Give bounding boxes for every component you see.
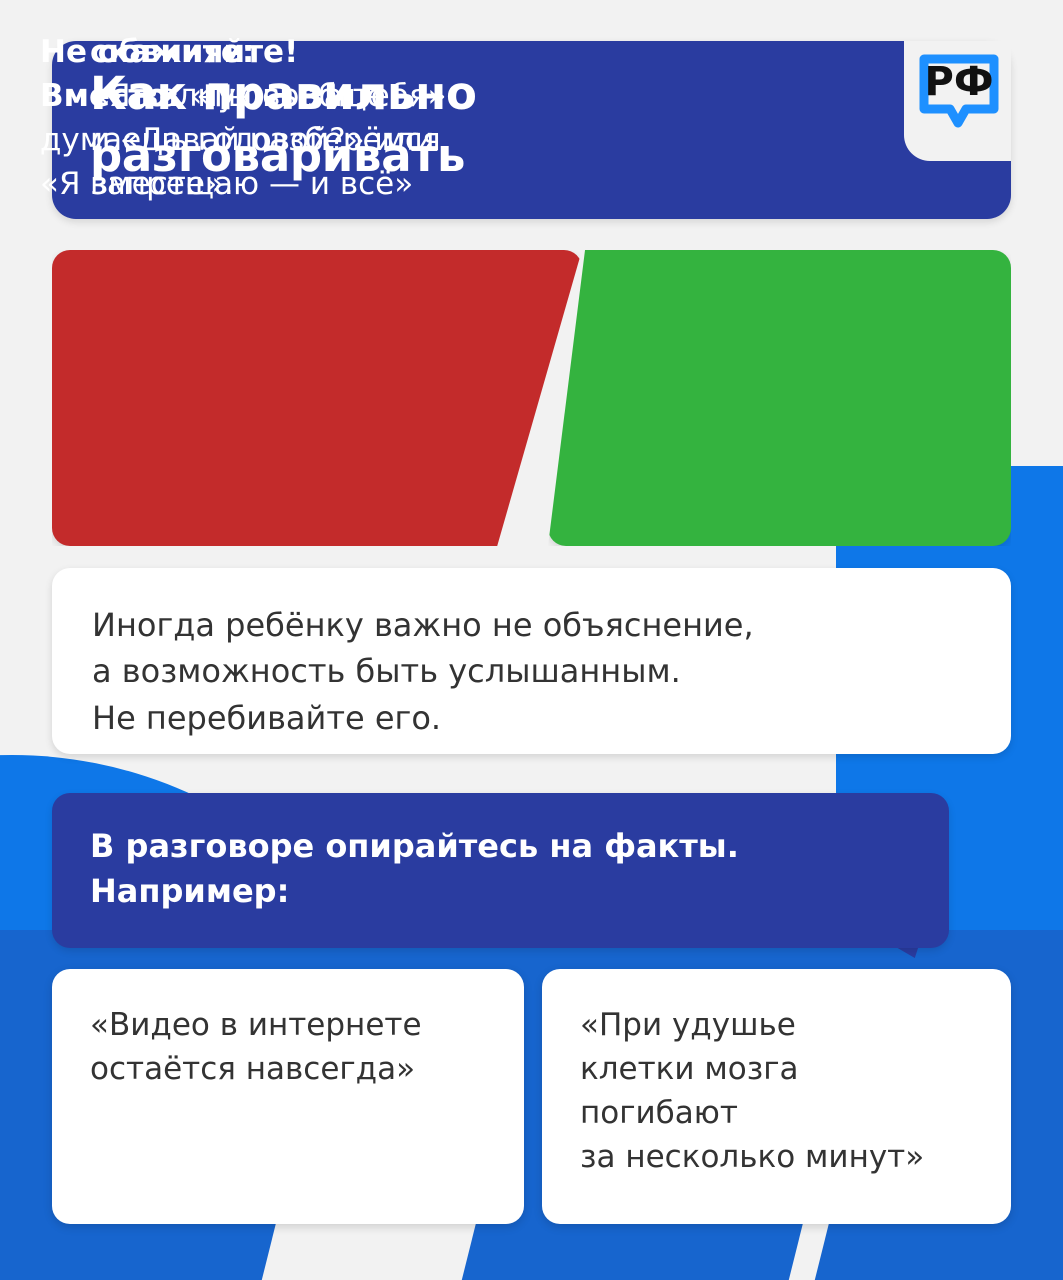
card-say-this-text: скажите: «Я волнуюсь за тебя» и «Давай р… (90, 30, 450, 206)
rf-logo: РФ (914, 43, 1006, 139)
card-do-not-accuse (52, 250, 582, 546)
say-this-label: скажите: (90, 34, 254, 70)
listening-note-text: Иногда ребёнку важно не объяснение, а во… (92, 602, 972, 741)
card-listening-note: Иногда ребёнку важно не объяснение, а во… (52, 568, 1011, 754)
facts-heading-text: В разговоре опирайтесь на факты. Наприме… (90, 824, 910, 915)
say-this-quote: «Я волнуюсь за тебя» и «Давай разберёмся… (90, 78, 447, 202)
infographic-root: Как правильно разговаривать РФ Не обвиня… (0, 0, 1063, 1280)
card-facts-heading: В разговоре опирайтесь на факты. Наприме… (52, 793, 949, 948)
fact-example-2-text: «При удушье клетки мозга погибают за нес… (580, 1003, 1000, 1179)
card-say-this (548, 250, 1011, 546)
card-fact-example-1: «Видео в интернете остаётся навсегда» (52, 969, 524, 1224)
card-fact-example-2: «При удушье клетки мозга погибают за нес… (542, 969, 1011, 1224)
rf-logo-text: РФ (925, 59, 994, 105)
speech-bubble-icon: РФ (914, 43, 1006, 139)
fact-example-1-text: «Видео в интернете остаётся навсегда» (90, 1003, 500, 1091)
